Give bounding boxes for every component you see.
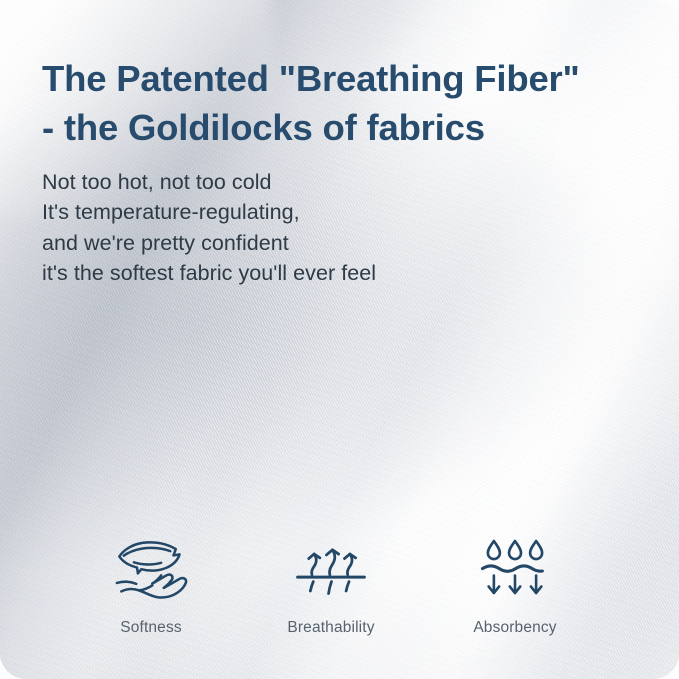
banner-content: The Patented "Breathing Fiber" - the Gol… [0, 0, 679, 679]
feature-item-absorbency: Absorbency [427, 534, 603, 637]
feature-item-breathability: Breathability [243, 534, 419, 637]
fabric-feature-banner: The Patented "Breathing Fiber" - the Gol… [0, 0, 679, 679]
subtitle-copy: Not too hot, not too cold It's temperatu… [42, 167, 655, 289]
water-droplets-absorb-icon [476, 534, 554, 604]
feature-item-softness: Softness [63, 534, 239, 637]
air-flow-arrows-icon [292, 534, 370, 604]
page-title: The Patented "Breathing Fiber" - the Gol… [42, 54, 655, 152]
feature-label-breathability: Breathability [287, 619, 374, 637]
feather-over-hand-icon [112, 534, 190, 604]
feature-label-absorbency: Absorbency [473, 619, 556, 637]
feature-label-softness: Softness [120, 619, 182, 637]
feature-list: Softness [0, 534, 679, 637]
